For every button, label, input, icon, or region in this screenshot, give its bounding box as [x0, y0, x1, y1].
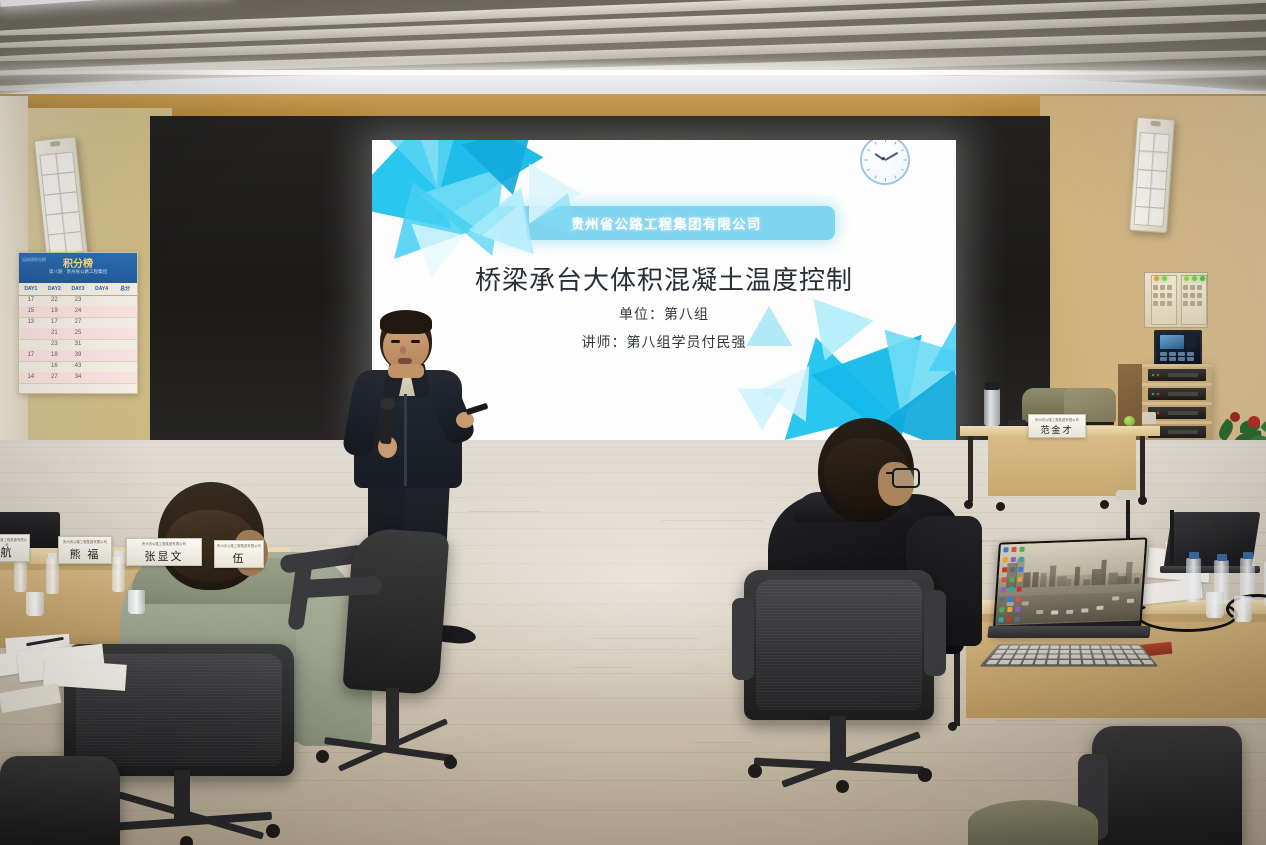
- nameplate-name: 张显文: [145, 552, 184, 565]
- conference-room-scene: 贵州省公路工程集团有限公司 桥梁承台大体积混凝土温度控制 单位：第八组 讲师：第…: [0, 0, 1266, 845]
- nameplate-org-line: 贵州省公路工程集团有限公司: [1029, 417, 1085, 422]
- nameplate-name: 伍: [233, 554, 246, 567]
- nameplate-4: 贵州省公路工程集团有限公司伍: [214, 540, 264, 568]
- nameplate-name: 航: [1, 548, 14, 561]
- nameplate-org-line: 贵州省公路工程集团有限公司: [215, 543, 263, 548]
- nameplate-org-line: 贵州省公路工程集团有限公司: [127, 541, 201, 546]
- nameplate-head-table: 贵州省公路工程集团有限公司范金才: [1028, 414, 1086, 438]
- nameplate-1: 贵州省公路工程集团有限公司航: [0, 534, 30, 562]
- nameplates: 贵州省公路工程集团有限公司航贵州省公路工程集团有限公司熊 福贵州省公路工程集团有…: [0, 0, 1266, 845]
- nameplate-name: 熊 福: [70, 550, 101, 563]
- nameplate-3: 贵州省公路工程集团有限公司张显文: [126, 538, 202, 566]
- nameplate-2: 贵州省公路工程集团有限公司熊 福: [58, 536, 112, 564]
- nameplate-org-line: 贵州省公路工程集团有限公司: [59, 539, 111, 544]
- nameplate-name: 范金才: [1040, 426, 1073, 437]
- nameplate-org-line: 贵州省公路工程集团有限公司: [0, 537, 29, 547]
